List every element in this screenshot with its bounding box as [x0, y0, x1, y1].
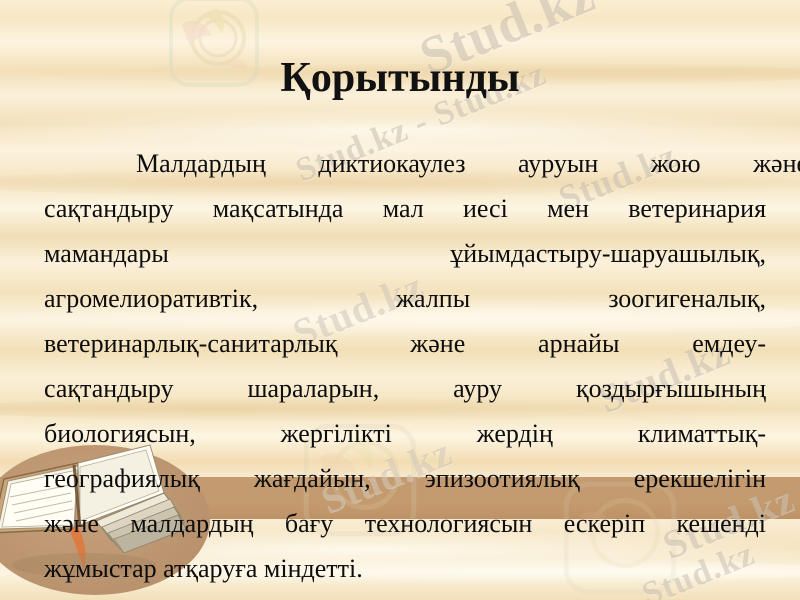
body-text-line: және малдардың бағу технологиясын ескері… [44, 501, 766, 546]
body-text-line: биологиясын, жергілікті жердің климаттық… [44, 411, 766, 456]
body-word: бағу [285, 501, 333, 546]
body-word: мамандары [44, 231, 169, 276]
body-word: диктиокаулез [272, 141, 465, 186]
body-text-line: жұмыстар атқаруға міндетті. [44, 546, 766, 591]
body-text-line: ветеринарлық-санитарлық және арнайы емде… [44, 321, 766, 366]
body-word: Малдардың [90, 141, 266, 186]
body-word: биологиясын, [44, 411, 196, 456]
body-text-line: сақтандыру шараларын, ауру қоздырғышының [44, 366, 766, 411]
body-word: жергілікті [281, 411, 392, 456]
slide-title: Қорытынды [0, 52, 800, 104]
body-word: емдеу- [692, 321, 766, 366]
body-word: климаттық- [638, 411, 766, 456]
body-word: жұмыстар [44, 546, 157, 591]
body-word: агромелиоративтік, [44, 276, 258, 321]
slide-content: Қорытынды Малдардың диктиокаулез ауруын … [0, 0, 800, 600]
body-word: ауруын [472, 141, 598, 186]
body-text-line: сақтандыру мақсатында мал иесі мен ветер… [44, 186, 766, 231]
body-word: зоогигеналық, [608, 276, 766, 321]
body-text-line: Малдардың диктиокаулез ауруын жою және [44, 141, 766, 186]
body-word: географиялық [44, 456, 200, 501]
body-word: және [410, 321, 465, 366]
body-word: мен [547, 186, 589, 231]
body-word: ветеринария [628, 186, 766, 231]
body-word: кешенді [677, 501, 766, 546]
body-text-line: мамандары ұйымдастыру-шаруашылық, [44, 231, 766, 276]
body-word: ветеринарлық-санитарлық [44, 321, 338, 366]
body-word: ауру [453, 366, 502, 411]
body-word: эпизоотиялық [425, 456, 580, 501]
body-word: жердің [477, 411, 553, 456]
body-word: ұйымдастыру-шаруашылық, [450, 231, 766, 276]
body-word: мал [383, 186, 424, 231]
body-word: және [44, 501, 99, 546]
body-word: арнайы [538, 321, 619, 366]
body-word: ерекшелігін [634, 456, 766, 501]
presentation-slide: Stud.kz Stud.kz - Stud.kz Stud.kz Stud.k… [0, 0, 800, 600]
body-word: технологиясын [365, 501, 533, 546]
body-word: атқаруға [163, 546, 257, 591]
body-word: малдардың [130, 501, 253, 546]
body-word: мақсатында [213, 186, 344, 231]
body-word: ескеріп [564, 501, 645, 546]
body-word: иесі [463, 186, 508, 231]
body-text-line: агромелиоративтік, жалпы зоогигеналық, [44, 276, 766, 321]
body-word: жағдайын, [254, 456, 371, 501]
body-word: сақтандыру [44, 186, 174, 231]
body-text-line: географиялық жағдайын, эпизоотиялық ерек… [44, 456, 766, 501]
body-word: және [707, 141, 800, 186]
body-word: шараларын, [247, 366, 379, 411]
body-word: жою [605, 141, 701, 186]
body-word: міндетті. [264, 546, 363, 591]
body-word: қоздырғышының [576, 366, 766, 411]
slide-body-text: Малдардың диктиокаулез ауруын жою жәнеса… [44, 141, 766, 591]
body-word: жалпы [396, 276, 470, 321]
body-word: сақтандыру [44, 366, 174, 411]
